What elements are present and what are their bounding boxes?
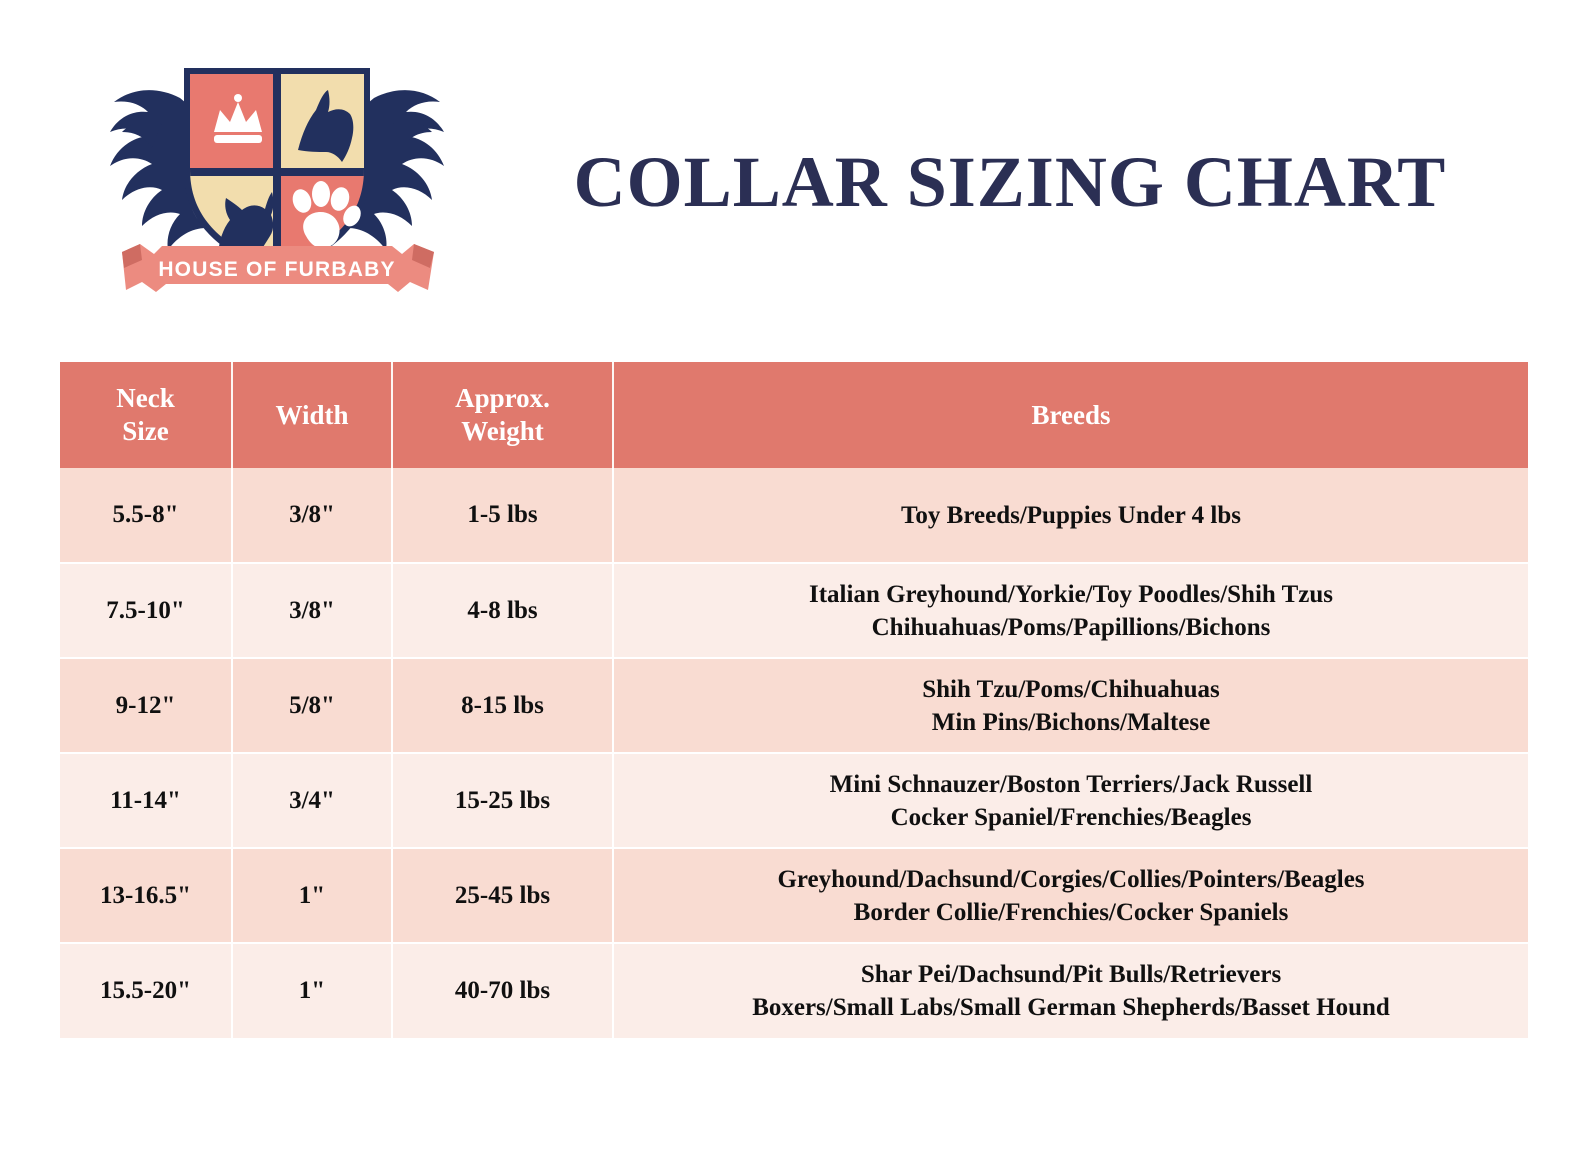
table-row: 9-12" 5/8" 8-15 lbs Shih Tzu/Poms/Chihua…	[60, 658, 1528, 753]
column-header-breeds: Breeds	[613, 362, 1528, 468]
breeds-line: Greyhound/Dachsund/Corgies/Collies/Point…	[620, 863, 1522, 896]
header-line: Neck	[64, 382, 227, 415]
cell-breeds: Shih Tzu/Poms/Chihuahuas Min Pins/Bichon…	[613, 658, 1528, 753]
column-header-width: Width	[232, 362, 392, 468]
table-body: 5.5-8" 3/8" 1-5 lbs Toy Breeds/Puppies U…	[60, 468, 1528, 1038]
header-line: Breeds	[618, 399, 1524, 432]
cell-width: 1"	[232, 943, 392, 1038]
cell-approx-weight: 40-70 lbs	[392, 943, 613, 1038]
column-header-neck-size: Neck Size	[60, 362, 232, 468]
cell-neck-size: 13-16.5"	[60, 848, 232, 943]
cell-neck-size: 11-14"	[60, 753, 232, 848]
breeds-line: Chihuahuas/Poms/Papillions/Bichons	[620, 611, 1522, 644]
page-header: HOUSE OF FURBABY COLLAR SIZING CHART	[0, 0, 1588, 350]
cell-width: 5/8"	[232, 658, 392, 753]
table-row: 5.5-8" 3/8" 1-5 lbs Toy Breeds/Puppies U…	[60, 468, 1528, 563]
cell-width: 3/4"	[232, 753, 392, 848]
cell-neck-size: 9-12"	[60, 658, 232, 753]
brand-logo: HOUSE OF FURBABY	[62, 38, 492, 308]
breeds-line: Boxers/Small Labs/Small German Shepherds…	[620, 991, 1522, 1024]
cell-width: 1"	[232, 848, 392, 943]
cell-approx-weight: 15-25 lbs	[392, 753, 613, 848]
ribbon-text: HOUSE OF FURBABY	[158, 258, 395, 281]
cell-approx-weight: 1-5 lbs	[392, 468, 613, 563]
cell-approx-weight: 25-45 lbs	[392, 848, 613, 943]
breeds-line: Toy Breeds/Puppies Under 4 lbs	[620, 499, 1522, 532]
cell-neck-size: 7.5-10"	[60, 563, 232, 658]
breeds-line: Shih Tzu/Poms/Chihuahuas	[620, 673, 1522, 706]
page-title: COLLAR SIZING CHART	[530, 146, 1490, 218]
cell-approx-weight: 4-8 lbs	[392, 563, 613, 658]
cell-width: 3/8"	[232, 563, 392, 658]
house-of-furbaby-crest-icon: HOUSE OF FURBABY	[62, 38, 492, 308]
table-row: 15.5-20" 1" 40-70 lbs Shar Pei/Dachsund/…	[60, 943, 1528, 1038]
breeds-line: Cocker Spaniel/Frenchies/Beagles	[620, 801, 1522, 834]
cell-breeds: Greyhound/Dachsund/Corgies/Collies/Point…	[613, 848, 1528, 943]
breeds-line: Border Collie/Frenchies/Cocker Spaniels	[620, 896, 1522, 929]
cell-width: 3/8"	[232, 468, 392, 563]
cell-approx-weight: 8-15 lbs	[392, 658, 613, 753]
header-line: Weight	[397, 415, 608, 448]
header-line: Size	[64, 415, 227, 448]
cell-neck-size: 5.5-8"	[60, 468, 232, 563]
breeds-line: Mini Schnauzer/Boston Terriers/Jack Russ…	[620, 768, 1522, 801]
table-row: 11-14" 3/4" 15-25 lbs Mini Schnauzer/Bos…	[60, 753, 1528, 848]
cell-breeds: Italian Greyhound/Yorkie/Toy Poodles/Shi…	[613, 563, 1528, 658]
cell-breeds: Shar Pei/Dachsund/Pit Bulls/Retrievers B…	[613, 943, 1528, 1038]
breeds-line: Min Pins/Bichons/Maltese	[620, 706, 1522, 739]
header-line: Width	[237, 399, 387, 432]
column-header-approx-weight: Approx. Weight	[392, 362, 613, 468]
breeds-line: Italian Greyhound/Yorkie/Toy Poodles/Shi…	[620, 578, 1522, 611]
table-header-row: Neck Size Width Approx. Weight Breeds	[60, 362, 1528, 468]
table-row: 7.5-10" 3/8" 4-8 lbs Italian Greyhound/Y…	[60, 563, 1528, 658]
header-line: Approx.	[397, 382, 608, 415]
table-row: 13-16.5" 1" 25-45 lbs Greyhound/Dachsund…	[60, 848, 1528, 943]
collar-sizing-table: Neck Size Width Approx. Weight Breeds 5.…	[60, 362, 1528, 1038]
cell-breeds: Toy Breeds/Puppies Under 4 lbs	[613, 468, 1528, 563]
breeds-line: Shar Pei/Dachsund/Pit Bulls/Retrievers	[620, 958, 1522, 991]
cell-breeds: Mini Schnauzer/Boston Terriers/Jack Russ…	[613, 753, 1528, 848]
cell-neck-size: 15.5-20"	[60, 943, 232, 1038]
